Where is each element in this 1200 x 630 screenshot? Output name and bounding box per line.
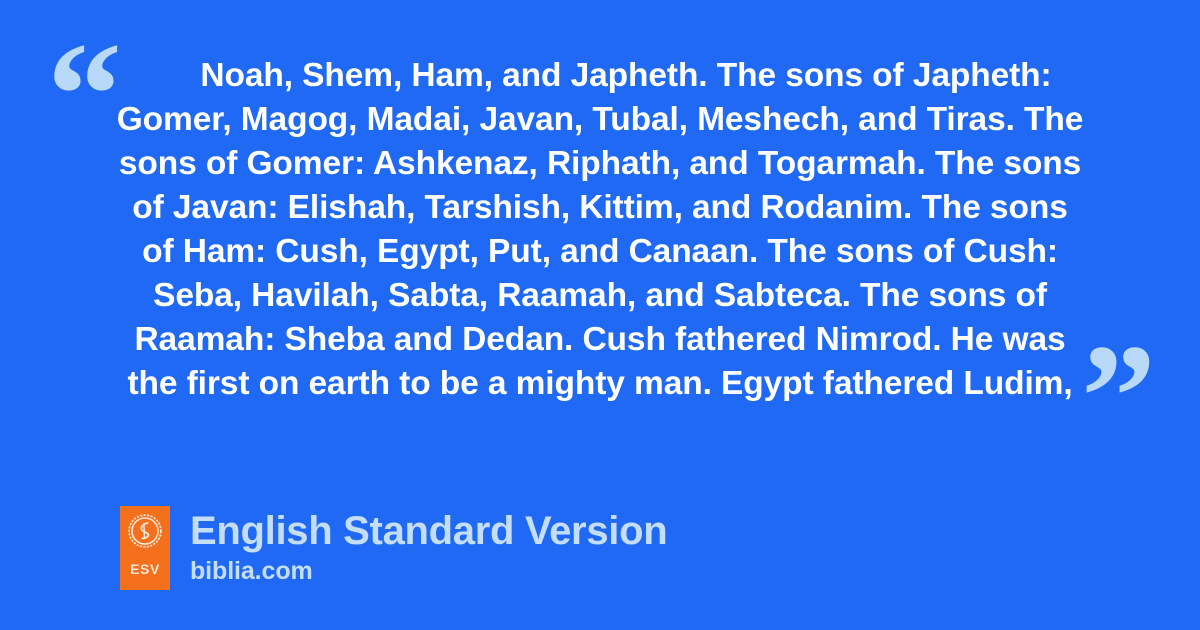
verse-line: sons of Gomer: Ashkenaz, Riphath, and To… bbox=[100, 142, 1100, 186]
verse-line: of Ham: Cush, Egypt, Put, and Canaan. Th… bbox=[100, 230, 1100, 274]
quote-card: “ Noah, Shem, Ham, and Japheth. The sons… bbox=[0, 0, 1200, 630]
esv-badge: ESV bbox=[120, 506, 170, 590]
verse-line: Noah, Shem, Ham, and Japheth. The sons o… bbox=[100, 54, 1100, 98]
verse-line: of Javan: Elishah, Tarshish, Kittim, and… bbox=[100, 186, 1100, 230]
verse-block: Noah, Shem, Ham, and Japheth. The sons o… bbox=[100, 54, 1100, 406]
verse-text: Noah, Shem, Ham, and Japheth. The sons o… bbox=[100, 54, 1100, 406]
footer: ESV English Standard Version biblia.com bbox=[120, 506, 667, 590]
site-url-link[interactable]: biblia.com bbox=[190, 556, 667, 586]
verse-line: Gomer, Magog, Madai, Javan, Tubal, Meshe… bbox=[100, 98, 1100, 142]
footer-text-group: English Standard Version biblia.com bbox=[190, 506, 667, 586]
verse-line: Seba, Havilah, Sabta, Raamah, and Sabtec… bbox=[100, 274, 1100, 318]
esv-badge-label: ESV bbox=[130, 562, 160, 576]
closing-quote-icon: ” bbox=[1081, 322, 1156, 472]
bible-version-name: English Standard Version bbox=[190, 508, 667, 554]
esv-seal-icon bbox=[128, 514, 162, 548]
verse-line: the first on earth to be a mighty man. E… bbox=[100, 362, 1100, 406]
verse-line: Raamah: Sheba and Dedan. Cush fathered N… bbox=[100, 318, 1100, 362]
